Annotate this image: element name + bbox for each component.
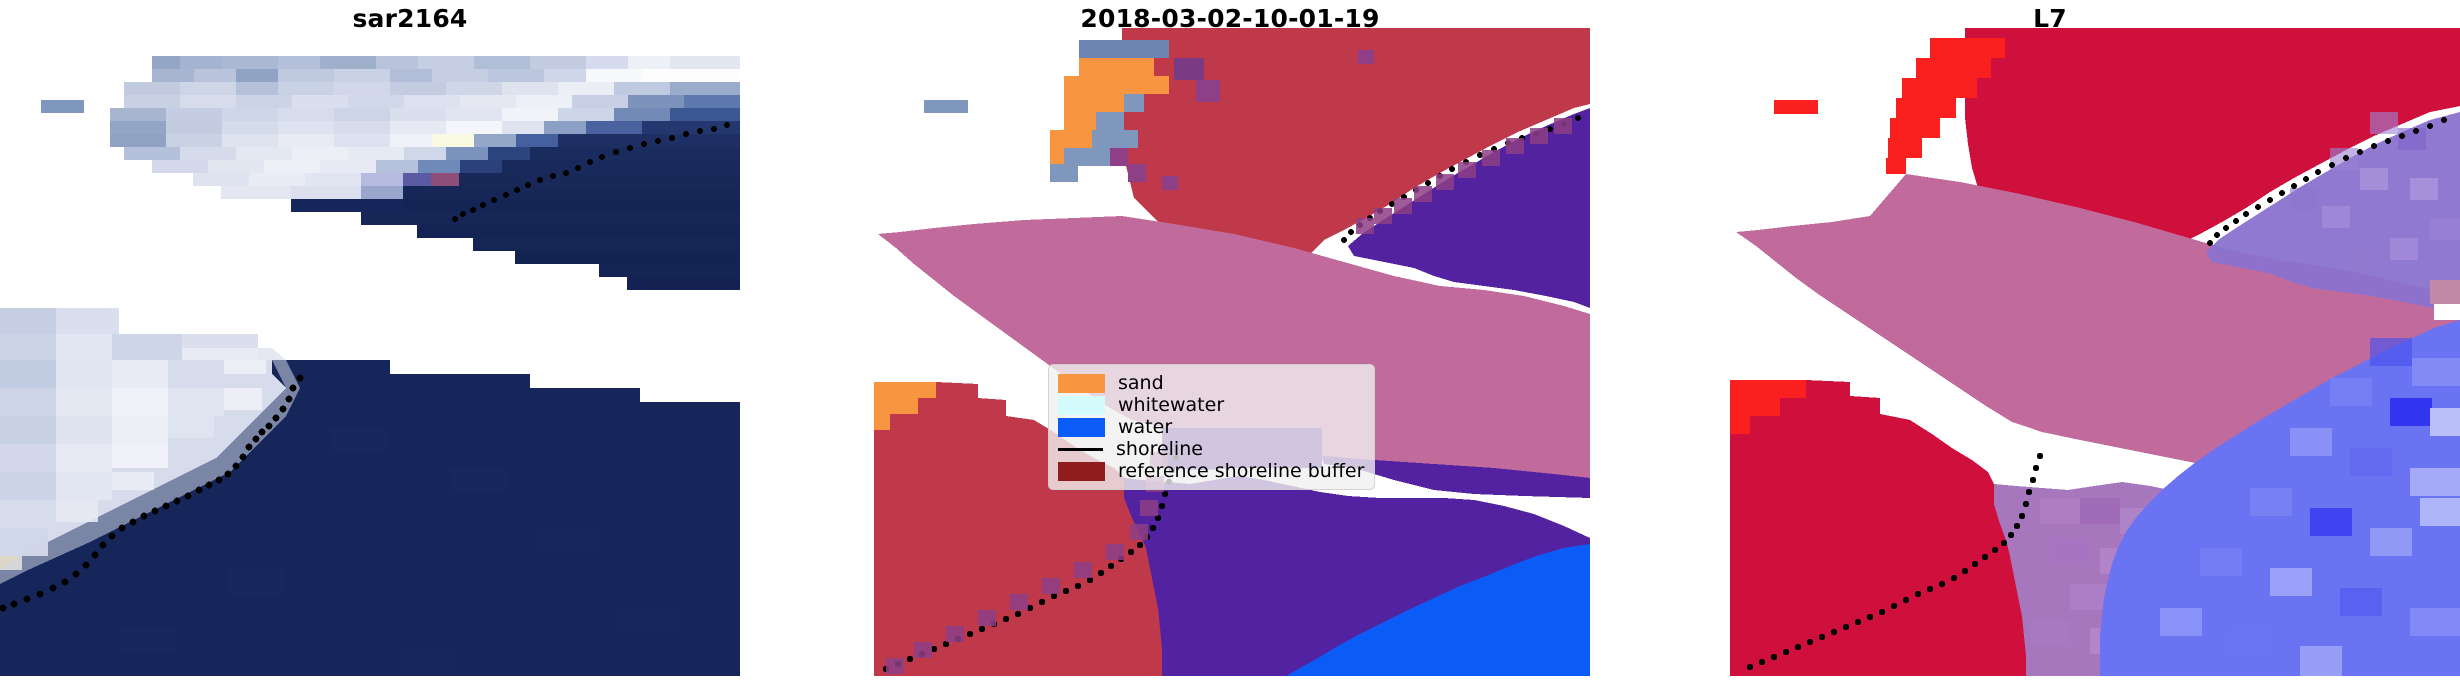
legend-label-sand: sand [1118, 374, 1164, 393]
raster-l7 [1730, 28, 2460, 676]
legend-label-shoreline: shoreline [1116, 440, 1203, 459]
panel-classification: 2018-03-02-10-01-19 [820, 0, 1640, 687]
figure-canvas: sar2164 [0, 0, 2460, 687]
legend-item-water: water [1058, 416, 1364, 438]
raster-sar2164 [0, 28, 740, 676]
legend-swatch-whitewater [1058, 396, 1105, 415]
raster-classification [874, 28, 1590, 676]
legend-item-sand: sand [1058, 372, 1364, 394]
sar-lower-chip [0, 308, 740, 676]
legend-label-water: water [1118, 418, 1172, 437]
legend-item-shoreline: shoreline [1058, 438, 1364, 460]
legend-item-whitewater: whitewater [1058, 394, 1364, 416]
legend-label-reference-shoreline-buffer: reference shoreline buffer [1118, 462, 1364, 481]
legend-swatch-water [1058, 418, 1105, 437]
legend: sand whitewater water shoreline referenc… [1048, 364, 1375, 490]
panel-sar2164: sar2164 [0, 0, 820, 687]
legend-line-shoreline [1058, 441, 1103, 458]
axes-sar2164 [0, 28, 740, 676]
legend-swatch-reference-shoreline-buffer [1058, 462, 1105, 481]
legend-swatch-sand [1058, 374, 1105, 393]
axes-l7 [1730, 28, 2460, 676]
panel-l7: L7 [1640, 0, 2460, 687]
axes-classification [874, 28, 1590, 676]
legend-item-reference-shoreline-buffer: reference shoreline buffer [1058, 460, 1364, 482]
legend-label-whitewater: whitewater [1118, 396, 1224, 415]
